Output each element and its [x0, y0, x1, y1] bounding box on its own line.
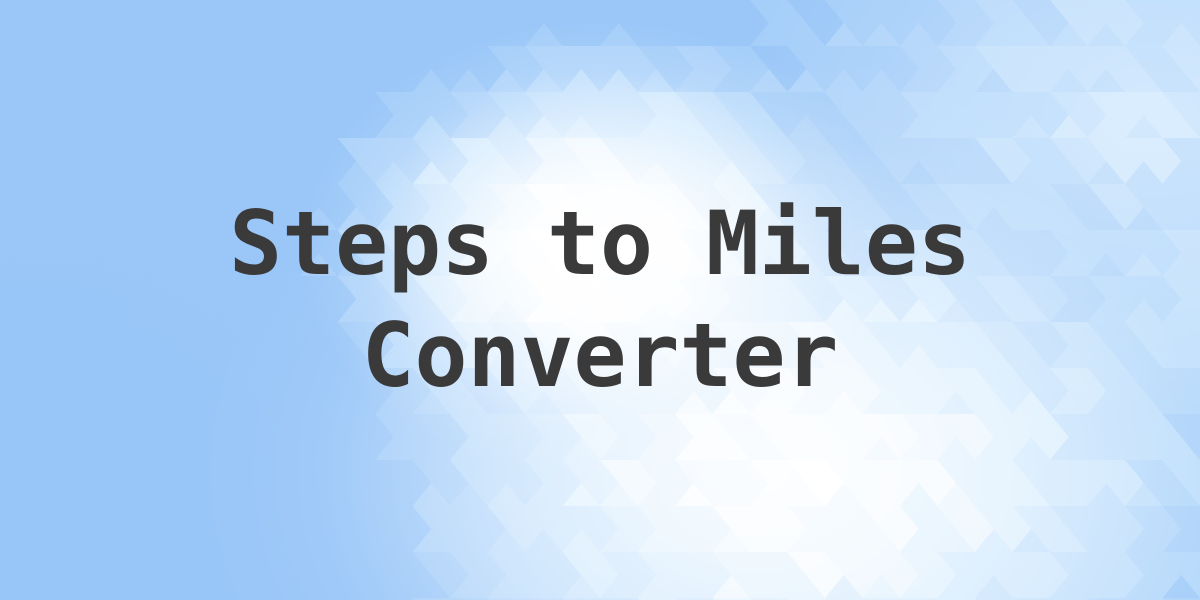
title-line-2: Converter	[362, 300, 839, 412]
title-line-1: Steps to Miles	[229, 188, 971, 300]
page-title: Steps to Miles Converter	[0, 0, 1200, 600]
banner-hero: Steps to Miles Converter	[0, 0, 1200, 600]
